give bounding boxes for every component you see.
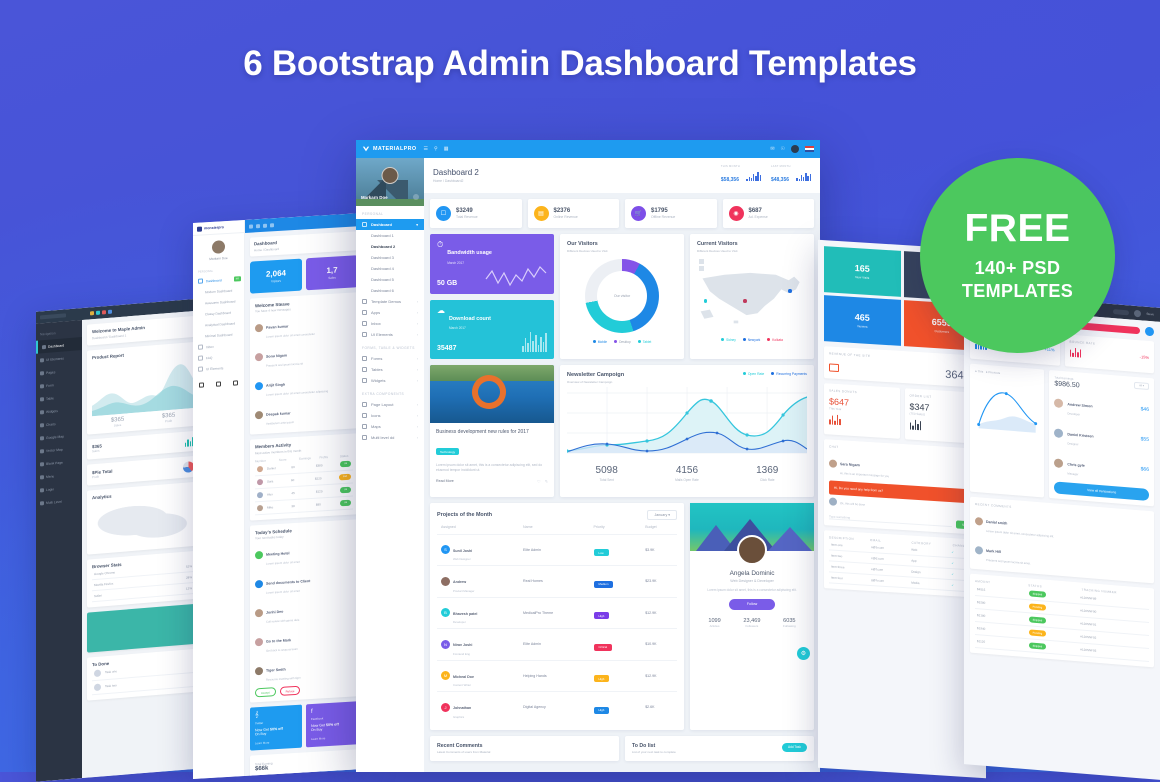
sidebar-item-widgets[interactable]: Widgets› [356, 375, 424, 386]
avatar: B [441, 608, 450, 617]
card-total-earnings: Total Earnings $986.50 All ▾ Andrew Simo… [1049, 370, 1154, 506]
card-chat: CHAT Sara NigamHi, this is an important … [824, 439, 980, 535]
stat-card-online-revenue: ▤ $2376Online Revenue [528, 199, 620, 228]
chevron-down-icon[interactable] [413, 194, 419, 200]
view-transactions-button[interactable]: View all transactions [1054, 481, 1149, 501]
sidebar-item-page-layout[interactable]: Page Layout› [356, 399, 424, 410]
sidebar-item-tables[interactable]: Tables› [356, 364, 424, 375]
sidebar-item-dashboard-1[interactable]: Dashboard 1 [356, 230, 424, 241]
legend-item: Newyork [743, 338, 760, 342]
priority-badge: Critical [594, 644, 613, 651]
folder-icon [829, 363, 839, 372]
window-icon [362, 299, 367, 304]
card-bounce-rate: BOUNCE RATE -15% [1065, 334, 1155, 373]
sidebar-item-template-demos[interactable]: Template Demos› [356, 296, 424, 307]
breadcrumb: Home / Dashboard2 [433, 179, 479, 183]
follow-button[interactable]: Follow [729, 599, 775, 610]
maple-main: Welcome to Maple Admin Dashboard / Dashb… [82, 310, 204, 778]
promo-card-facebook[interactable]: f Facebook Now Get 50% off On Buy Learn … [306, 701, 358, 747]
monster-brand: monsterpro [204, 225, 224, 230]
sidebar-caption-forms: FORMS, TABLE & WIDGETS [356, 340, 424, 353]
screenshot-right-dashboard-2: Steve UNIQUE VISITOR +11% BOUNCE RATE -1… [964, 292, 1160, 780]
badge-line-3: TEMPLATES [962, 281, 1073, 301]
maple-welcome-card: Welcome to Maple Admin Dashboard / Dashb… [87, 316, 199, 346]
map-dot-sidney [704, 299, 708, 303]
avatar [382, 167, 399, 184]
sidebar-item-dashboard-3[interactable]: Dashboard 3 [356, 252, 424, 263]
screenshot-materialpro: MATERIALPRO ☰ ⚲ ▦ ✉ ☉ Markarn Doe PERSON… [356, 140, 820, 772]
sidebar-caption-personal: PERSONAL [356, 206, 424, 219]
pencil-icon [362, 413, 367, 418]
priority-badge: High [594, 675, 610, 682]
cart-icon: 🛒 [631, 206, 646, 221]
tile-bandwidth-usage: ⏱ Bandwidth usageMarch 2017 50 GB [430, 234, 554, 294]
search-icon[interactable]: ⚲ [434, 146, 438, 152]
column-header: Status [340, 453, 353, 458]
hamburger-icon[interactable]: ☰ [424, 146, 428, 152]
maple-analytics-card: Analytics [87, 481, 199, 554]
card-sales-donuts: SALES DONUTS $647 This Year [824, 383, 900, 439]
card-recent-comments: Recent Comments Latest Comments of users… [430, 736, 619, 762]
status-badge: Shipped [1029, 590, 1047, 597]
footer-row: Recent Comments Latest Comments of users… [424, 736, 820, 768]
sidebar-item-apps[interactable]: Apps› [356, 307, 424, 318]
sidebar-item-ui-elements[interactable]: UI Elements› [356, 329, 424, 340]
widget-icon [362, 378, 367, 383]
donut-chart: Our visitor [585, 259, 659, 333]
newsletter-stat-total-sent: 5098Total Sent [596, 465, 618, 482]
line-chart [567, 387, 807, 459]
wallet-icon: ☐ [436, 206, 451, 221]
badge-line-2: 140+ PSD [975, 258, 1061, 278]
newsletter-stat-open-rate: 4156Mails Open Rate [675, 465, 699, 482]
refuse-button[interactable]: Refuse [280, 686, 301, 696]
blog-image [430, 365, 554, 423]
bell-icon[interactable]: ☉ [781, 146, 785, 152]
newsletter-stat-click-rate: 1369Click Rate [756, 465, 778, 482]
maple-stat-card-2: $Pie TotalProfit [87, 455, 199, 485]
materialpro-main: Dashboard 2 Home / Dashboard2 THIS MONTH… [424, 158, 820, 772]
power-icon[interactable] [199, 382, 204, 387]
priority-badge: High [594, 707, 610, 714]
sidebar-item-dashboard-4[interactable]: Dashboard 4 [356, 263, 424, 274]
card-title: Projects of the Month [437, 512, 492, 518]
download-icon: ☁ [437, 307, 445, 315]
materialpro-sidebar[interactable]: Markarn Doe PERSONAL Dashboard▾ Dashboar… [356, 158, 424, 772]
sparkline-bars [746, 172, 761, 181]
sidebar-item-dashboard-5[interactable]: Dashboard 5 [356, 274, 424, 285]
blog-title: Business development new rules for 2017 [436, 429, 548, 436]
maple-world-map [92, 495, 194, 549]
priority-badge: Low [594, 549, 609, 556]
tile-new-visits: 165New Visits [824, 246, 901, 297]
legend-item: Tablet [638, 340, 652, 344]
lock-icon[interactable] [216, 381, 221, 386]
screenshot-maple-admin: Navigation Dashboard UI Elements Pages F… [36, 298, 204, 782]
monster-profile-name: Markarn Doe [193, 255, 244, 262]
clock-icon: ⏱ [437, 241, 443, 249]
status-badge: Pending [1029, 603, 1047, 610]
stat-card-total-revenue: ☐ $3249Total Revenue [430, 199, 522, 228]
priority-badge: High [594, 612, 610, 619]
card-title: To Do list [632, 743, 676, 749]
monster-kpi: 1,7Sales [306, 255, 358, 290]
card-title: Our Visitors [567, 241, 677, 247]
brand-text: MATERIALPRO [373, 146, 417, 152]
sparkline-bars [796, 172, 811, 181]
table-icon [362, 367, 367, 372]
map-dot-kolkata [743, 299, 747, 303]
legend-item: Sidney [721, 338, 736, 342]
maple-browser-stats-card: Browser Stats Google Chrome52% Mozilla F… [87, 550, 199, 607]
coin-icon: ◉ [729, 206, 744, 221]
delta-value: -15% [1140, 354, 1149, 360]
avatar: M [441, 671, 450, 680]
add-task-button[interactable]: Add Task [782, 743, 807, 752]
us-map [697, 257, 807, 331]
monster-kpi-row: 2,064Visitors 1,7Sales [250, 255, 358, 293]
sidebar-item-maps[interactable]: Maps› [356, 421, 424, 432]
tile-viewers: 465Viewers [824, 295, 901, 346]
sidebar-profile[interactable]: Markarn Doe [356, 158, 424, 206]
priority-badge: Medium [594, 581, 614, 588]
tile-download-count: ☁ Download countMarch 2017 35487 [430, 300, 554, 360]
materialpro-topbar: MATERIALPRO ☰ ⚲ ▦ ✉ ☉ [356, 140, 820, 158]
table-row: MMicheal DoeContent Writer Helping Hands… [437, 660, 677, 692]
column-header: Priority [590, 520, 642, 535]
flag-icon[interactable] [805, 146, 814, 152]
maple-product-report: Product Report $365Sales $365Profit [87, 341, 199, 434]
this-month-stat: THIS MONTH $58,356 [721, 165, 761, 186]
card-title: Current Visitors [697, 241, 807, 247]
profile-stat-articles: 1099Articles [708, 618, 720, 628]
grid-icon[interactable]: ▦ [444, 146, 449, 152]
table-row: NNirav JoshiFrontend Eng Elite Admin Cri… [437, 629, 677, 661]
sidebar-item-inbox[interactable]: Inbox› [356, 318, 424, 329]
card-orders-table: Amount Status Tracking Number $4515Shipp… [970, 574, 1154, 668]
maple-sidebar[interactable]: Navigation Dashboard UI Elements Pages F… [36, 320, 82, 782]
tree-icon [362, 435, 367, 440]
card-icon: ▤ [534, 206, 549, 221]
sidebar-item-multilevel[interactable]: Multi level dd› [356, 432, 424, 443]
speedometer-icon [362, 222, 367, 227]
card-newsletter-campaign: Newsletter Campoign Overview of Newslett… [560, 365, 814, 497]
pin-icon [362, 424, 367, 429]
avatar: J [441, 703, 450, 712]
avatar[interactable] [791, 145, 799, 153]
monster-badge: 4/5 [234, 276, 241, 281]
avatar[interactable] [1134, 309, 1141, 317]
sparkline-bars [522, 330, 547, 352]
chevron-down-icon: ▾ [668, 513, 670, 517]
month-select[interactable]: January ▾ [647, 510, 677, 520]
card-title: Recent Comments [437, 743, 612, 749]
maple-todone-card: To Done Task one Task two [87, 648, 199, 700]
sidebar-item-dashboard[interactable]: Dashboard▾ [356, 219, 424, 230]
heart-icon[interactable]: ♡ [537, 479, 541, 484]
chat-input[interactable]: Type something [829, 514, 952, 527]
table-row: SSunil JoshiWeb Designer Elite Admin Low… [437, 534, 677, 566]
avatar [737, 535, 767, 565]
legend-item: Desktop [614, 340, 631, 344]
profile-bio: Lorem ipsum dolor sit amet, this is a co… [697, 588, 807, 593]
profile-role: Web Designer & Developer [697, 579, 807, 583]
message-icon[interactable]: ✉ [770, 146, 774, 152]
bar-chart [1070, 347, 1082, 358]
stat-card-row: ☐ $3249Total Revenue ▤ $2376Online Reven… [424, 193, 820, 234]
column-header: Name [519, 520, 589, 535]
gear-icon[interactable] [233, 380, 238, 385]
monster-promo-row: 𝄞 Twitter Now Get 50% off On Buy Learn M… [250, 701, 358, 750]
inbox-icon [362, 321, 367, 326]
accept-button[interactable]: Accept [255, 687, 276, 697]
user-name: Steve [1146, 312, 1154, 317]
monster-members-card: Members Activity Most active members in … [250, 433, 358, 520]
avatar: S [441, 545, 450, 554]
bar-chart [910, 419, 922, 430]
table-row: AndrewProduct Manager Real Homes Medium … [437, 566, 677, 598]
search-input[interactable] [1113, 309, 1129, 315]
maple-sidebar-item[interactable]: Multi Level [36, 493, 82, 510]
stat-card-offline-revenue: 🛒 $1795Offline Revenue [625, 199, 717, 228]
floating-action-button[interactable]: ⚙ [797, 647, 810, 660]
profile-name: Angela Dominic [697, 570, 807, 577]
promo-link[interactable]: Learn More [311, 735, 353, 741]
promo-link[interactable]: Learn More [255, 739, 297, 745]
avatar: N [441, 640, 450, 649]
column-header: Budget [641, 520, 677, 535]
card-recent-comments: RECENT COMMENTS Danial smithLorem ipsum … [970, 497, 1154, 584]
stat-card-ad-expense: ◉ $687Ad. Expense [723, 199, 815, 228]
sidebar-item-icons[interactable]: Icons› [356, 410, 424, 421]
widget-row: ⏱ Bandwidth usageMarch 2017 50 GB ☁ Down… [424, 234, 820, 365]
status-badge: Shipped [1029, 616, 1047, 623]
legend-item: Open Rate [743, 372, 764, 376]
earnings-filter-select[interactable]: All ▾ [1134, 382, 1149, 390]
promo-card-twitter[interactable]: 𝄞 Twitter Now Get 50% off On Buy Learn M… [250, 705, 302, 751]
page-header: Dashboard 2 Home / Dashboard2 THIS MONTH… [424, 158, 820, 193]
content-row: Business development new rules for 2017 … [424, 365, 820, 503]
add-button[interactable] [1145, 327, 1154, 337]
card-line-chart: ● This ● Previous [970, 364, 1044, 498]
logo-icon [362, 145, 370, 153]
sidebar-item-dashboard-2[interactable]: Dashboard 2 [356, 241, 424, 252]
maple-teal-card [87, 603, 199, 652]
table-row: BBhavesh patelDeveloper MedicalPro Theme… [437, 597, 677, 629]
layout-icon [362, 402, 367, 407]
card-todo-list: To Do list List of your next task to com… [625, 736, 814, 762]
monster-main: Dashboard Home / Dashboard 2,064Visitors… [245, 213, 363, 776]
avatar [441, 577, 450, 586]
card-projects-of-the-month: Projects of the Month January ▾ Assigned… [430, 503, 684, 730]
card-table-footer: DESCRIPTION EMAIL CATEGORY CHANGE Item o… [824, 530, 980, 598]
status-badge: Shipped [1029, 642, 1047, 649]
list-item: Tiger SmithResource meeting with tiger [255, 651, 353, 686]
monster-profile: Markarn Doe [193, 233, 244, 266]
card-current-visitors: Current Visitors Different Devices Used … [690, 234, 814, 359]
pen-icon [362, 332, 367, 337]
zoom-out-button[interactable] [699, 266, 704, 271]
legend-item: Kolkata [767, 338, 783, 342]
maple-area-chart [92, 356, 194, 416]
monster-kpi: 2,064Visitors [250, 258, 302, 293]
line-chart [975, 373, 1039, 440]
status-badge: Pending [1029, 629, 1047, 636]
sidebar-item-forms[interactable]: Forms› [356, 353, 424, 364]
sparkline [485, 265, 547, 287]
card-title: Newsletter Campoign [567, 372, 624, 378]
page-title: Dashboard 2 [433, 168, 479, 177]
apps-icon [362, 310, 367, 315]
projects-row: Projects of the Month January ▾ Assigned… [424, 503, 820, 736]
profile-name: Markarn Doe [361, 195, 388, 200]
list-item: Chris gyleManager$66 [1054, 447, 1149, 485]
map-dot-newyork [788, 289, 792, 293]
last-month-stat: LAST MONTH $48,356 [771, 165, 811, 186]
form-icon [362, 356, 367, 361]
monster-logo-icon [197, 226, 202, 231]
maple-stat-card-1: $365Sales [87, 430, 199, 459]
zoom-in-button[interactable] [699, 259, 704, 264]
card-profile-angela: Angela Dominic Web Designer & Developer … [690, 503, 814, 730]
badge-line-1: FREE [964, 209, 1070, 248]
bar-chart [829, 414, 841, 425]
monster-sidebar[interactable]: monsterpro Markarn Doe PERSONAL Dashboar… [193, 220, 245, 779]
share-icon[interactable]: ↰ [545, 479, 548, 484]
read-more-link[interactable]: Read More [436, 479, 454, 483]
monster-welcome-card: Welcome Steave You have 4 new messages P… [250, 292, 358, 435]
list-item: Deepak kumarVestibulum ante ipsum [255, 395, 353, 430]
table-row: JJohnathanGraphics Digital Agency High $… [437, 692, 677, 723]
free-badge: FREE 140+ PSD TEMPLATES [920, 158, 1115, 353]
legend-item: Recurring Payments [771, 372, 807, 376]
monster-schedule-card: Today's Schedule Your next tasks today M… [250, 519, 358, 703]
card-our-visitors: Our Visitors Different Devices Used to V… [560, 234, 684, 359]
legend-item: Mobile [593, 340, 607, 344]
materialpro-brand[interactable]: MATERIALPRO [362, 145, 417, 153]
projects-table: Assigned Name Priority Budget SSunil Jos… [437, 520, 677, 723]
blog-body: Lorem ipsum dolor sit amet, this is a co… [436, 463, 548, 473]
card-blog-post: Business development new rules for 2017 … [430, 365, 554, 497]
column-header: Assigned [437, 520, 519, 535]
monster-earning-card: Total Earning $66k Andrew Smith Sara Nig… [250, 749, 358, 779]
monster-page-head: Dashboard Home / Dashboard [250, 231, 358, 256]
page-title: 6 Bootstrap Admin Dashboard Templates [0, 44, 1160, 84]
profile-stat-following: 6035Following [783, 618, 796, 628]
sidebar-caption-extra: EXTRA COMPONENTS [356, 386, 424, 399]
card-revenue-of-site: REVENUE OF THE SITE 36411 [824, 346, 980, 388]
screenshot-monster-admin: monsterpro Markarn Doe PERSONAL Dashboar… [193, 213, 363, 779]
maple-sidebar-label: Dashboard [48, 343, 64, 348]
blog-tag[interactable]: Technology [436, 448, 459, 455]
profile-stat-followers: 23,469Followers [743, 618, 760, 628]
sidebar-item-dashboard-6[interactable]: Dashboard 6 [356, 285, 424, 296]
